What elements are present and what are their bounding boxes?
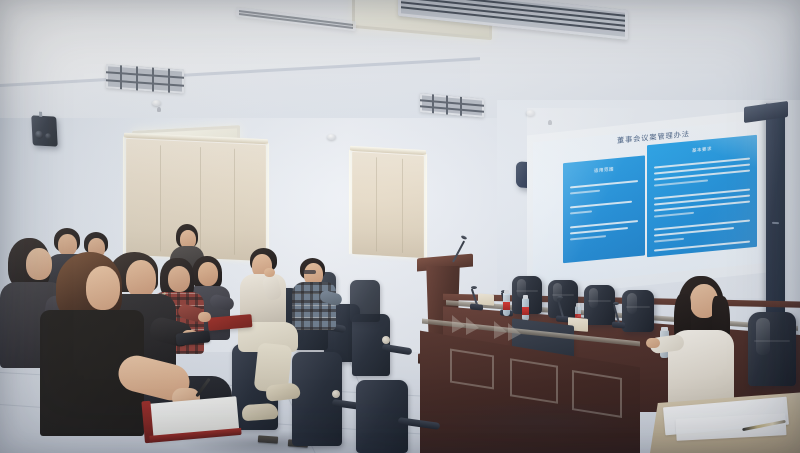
smoke-detector — [152, 100, 161, 106]
eyeglasses — [303, 270, 316, 274]
smoke-detector — [327, 134, 336, 140]
attendee-body — [292, 282, 336, 330]
slide-panel-left-header: 适用范围 — [594, 166, 614, 174]
shoe — [241, 403, 278, 421]
desk-panel-diamond — [450, 349, 494, 390]
water-bottle — [522, 298, 529, 321]
window-blind — [352, 150, 424, 258]
executive-chair — [584, 285, 615, 325]
projection-screen: 董事会议案管理办法 适用范围 基本要求 — [527, 108, 777, 298]
executive-chair — [748, 312, 796, 386]
desk-panel-chevron — [466, 317, 479, 337]
water-bottle — [503, 293, 510, 316]
desk-microphone-head — [471, 286, 477, 289]
desk-panel-diamond — [510, 358, 558, 404]
tissue-box — [478, 293, 494, 305]
desk-microphone-head — [613, 302, 619, 305]
audience-chair — [350, 280, 380, 322]
wall-speaker-left — [31, 115, 58, 146]
desk-panel-chevron — [452, 315, 465, 335]
screen-surface: 董事会议案管理办法 适用范围 基本要求 — [533, 118, 771, 286]
slide-panel-left: 适用范围 — [563, 155, 645, 263]
slide-panel-right-header: 基本要求 — [692, 146, 712, 154]
executive-chair — [622, 290, 654, 332]
wall-pillar — [766, 104, 785, 319]
conference-room-photo: 董事会议案管理办法 适用范围 基本要求 — [0, 0, 800, 453]
slide-panel-right: 基本要求 — [647, 135, 757, 257]
presenter-hand — [646, 338, 660, 348]
sprinkler-head — [157, 107, 161, 112]
executive-chair — [548, 280, 578, 318]
audience-chair — [356, 380, 408, 453]
desk-panel-chevron — [494, 321, 507, 341]
desk-microphone-head — [557, 296, 563, 299]
audience-chair — [352, 314, 390, 376]
desk-panel-chevron — [508, 323, 521, 343]
